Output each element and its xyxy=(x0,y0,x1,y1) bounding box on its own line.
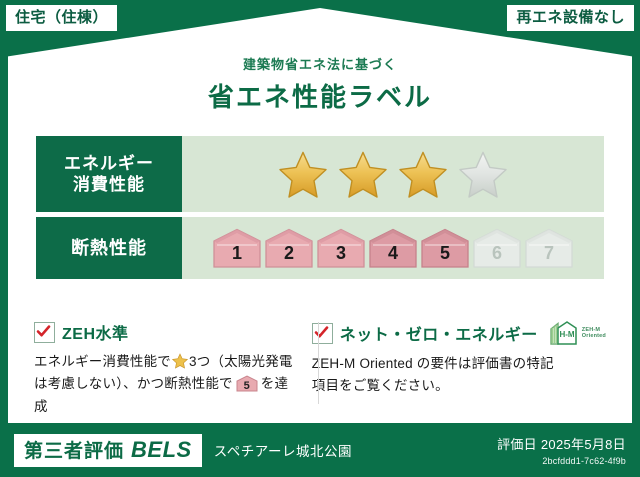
zeh-m-caption-line2: Oriented xyxy=(582,333,606,339)
performance-block: エネルギー 消費性能 断熱性能 1234567 xyxy=(36,136,604,279)
label-title-block: 建築物省エネ法に基づく 省エネ性能ラベル xyxy=(0,54,640,114)
netzero-checkbox xyxy=(312,323,333,344)
energy-performance-row: エネルギー 消費性能 xyxy=(36,136,604,212)
house-badge-icon-filled: 2 xyxy=(265,228,313,268)
energy-label-line2: 消費性能 xyxy=(73,174,145,195)
zeh-body-part1: エネルギー消費性能で xyxy=(34,354,171,369)
netzero-body-line2: 項目をご覧ください。 xyxy=(312,378,449,393)
house-badge-icon-empty: 6 xyxy=(473,228,521,268)
evaluation-date: 評価日 2025年5月8日 xyxy=(497,434,626,453)
zeh-body-star-count: 3つ（太陽光発電 xyxy=(189,354,293,369)
evaluation-id: 2bcfddd1-7c62-4f9b xyxy=(497,456,626,466)
netzero-note-column: ネット・ゼロ・エネルギー H-M ZEH-M Oriented xyxy=(312,320,606,418)
notes-section: ZEH水準 エネルギー消費性能で 3つ（太陽光発電 は考慮しない）、かつ断熱性能… xyxy=(34,320,606,418)
evaluation-date-value: 2025年5月8日 xyxy=(541,437,626,452)
zeh-m-caption-line1: ZEH-M xyxy=(582,327,600,333)
bels-badge: 第三者評価 BELS xyxy=(14,434,202,467)
zeh-note-column: ZEH水準 エネルギー消費性能で 3つ（太陽光発電 は考慮しない）、かつ断熱性能… xyxy=(34,320,298,418)
star-icon-filled xyxy=(278,150,328,198)
building-type-tag: 住宅（住棟） xyxy=(6,5,117,31)
netzero-note-header: ネット・ゼロ・エネルギー H-M ZEH-M Oriented xyxy=(312,320,606,346)
zeh-body-part2: は考慮しない）、かつ断熱性能で xyxy=(34,376,233,391)
netzero-body-line1: ZEH-M Oriented の要件は評価書の特記 xyxy=(312,356,554,371)
evaluation-date-label: 評価日 xyxy=(497,437,537,452)
zeh-note-title: ZEH水準 xyxy=(62,320,129,344)
title-subtitle: 建築物省エネ法に基づく xyxy=(0,54,640,73)
zeh-m-logo-caption: ZEH-M Oriented xyxy=(582,327,606,340)
zeh-m-oriented-logo: H-M ZEH-M Oriented xyxy=(549,320,606,346)
house-badge-icon-filled: 4 xyxy=(369,228,417,268)
star-icon-filled xyxy=(338,150,388,198)
zeh-note-header: ZEH水準 xyxy=(34,320,298,344)
renewable-equipment-tag: 再エネ設備なし xyxy=(507,5,634,31)
insulation-performance-row: 断熱性能 1234567 xyxy=(36,217,604,279)
page-title: 省エネ性能ラベル xyxy=(0,77,640,114)
insulation-performance-label: 断熱性能 xyxy=(36,217,182,279)
svg-text:H-M: H-M xyxy=(559,330,574,339)
energy-performance-value xyxy=(182,136,604,212)
house-badge-icon-filled: 1 xyxy=(213,228,261,268)
star-icon-empty xyxy=(458,150,508,198)
energy-performance-label: エネルギー 消費性能 xyxy=(36,136,182,212)
energy-performance-label: 住宅（住棟） 再エネ設備なし 建築物省エネ法に基づく 省エネ性能ラベル ハウスプ… xyxy=(0,0,640,477)
insulation-performance-value: 1234567 xyxy=(182,217,604,279)
zeh-note-body: エネルギー消費性能で 3つ（太陽光発電 は考慮しない）、かつ断熱性能で 5 を達… xyxy=(34,351,298,418)
inline-house-badge-icon: 5 xyxy=(236,375,258,392)
star-rating xyxy=(278,150,508,198)
star-icon-filled xyxy=(398,150,448,198)
netzero-note-body: ZEH-M Oriented の要件は評価書の特記 項目をご覧ください。 xyxy=(312,353,606,398)
zeh-checkbox xyxy=(34,322,55,343)
house-badge-icon-filled: 3 xyxy=(317,228,365,268)
house-badge-icon-empty: 7 xyxy=(525,228,573,268)
inline-star-icon xyxy=(172,353,188,369)
building-name: スペチアーレ城北公園 xyxy=(214,440,352,460)
bels-jp-label: 第三者評価 xyxy=(24,442,124,461)
notes-divider xyxy=(318,322,319,404)
insulation-rating: 1234567 xyxy=(213,228,573,268)
inline-badge-number: 5 xyxy=(236,381,258,392)
house-badge-icon-filled: 5 xyxy=(421,228,469,268)
bels-en-label: BELS xyxy=(131,439,192,461)
insulation-label-text: 断熱性能 xyxy=(71,237,147,260)
netzero-note-title: ネット・ゼロ・エネルギー xyxy=(340,321,538,345)
footer-meta: 評価日 2025年5月8日 2bcfddd1-7c62-4f9b xyxy=(497,434,626,466)
energy-label-line1: エネルギー xyxy=(64,153,154,174)
label-footer: 第三者評価 BELS スペチアーレ城北公園 評価日 2025年5月8日 2bcf… xyxy=(0,423,640,477)
